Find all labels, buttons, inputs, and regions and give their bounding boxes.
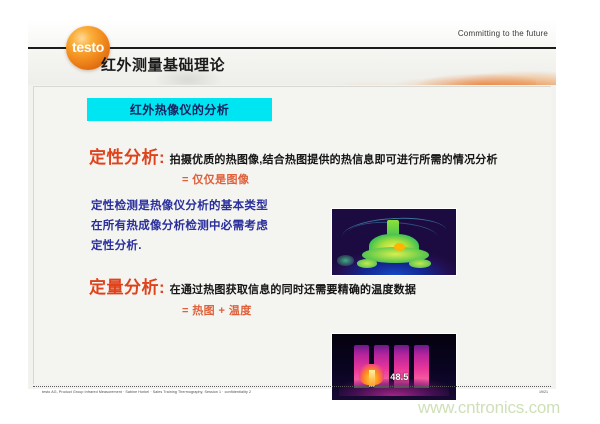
- header-flame-graphic-accent: [356, 55, 536, 85]
- qualitative-equation: = 仅仅是图像: [182, 171, 249, 187]
- page-title: 红外测量基础理论: [101, 54, 225, 75]
- landing-skid-left: [357, 259, 377, 268]
- quantitative-label: 定量分析:: [89, 278, 165, 297]
- slide-body: 红外热像仪的分析 定性分析: 拍摄优质的热图像,结合热图提供的热信息即可进行所需…: [33, 86, 551, 384]
- slide-canvas: Committing to the future testo 红外测量基础理论 …: [28, 20, 556, 389]
- qualitative-label: 定性分析:: [89, 148, 165, 167]
- page-number: 19/21: [539, 390, 548, 394]
- qualitative-heading-row: 定性分析: 拍摄优质的热图像,结合热图提供的热信息即可进行所需的情况分析: [89, 143, 498, 168]
- quantitative-description: 在通过热图获取信息的同时还需要精确的温度数据: [170, 284, 416, 296]
- columns-thermal-image: 48.5: [332, 334, 456, 400]
- qualitative-note-line-3: 定性分析.: [91, 237, 142, 253]
- helicopter-thermal-image: [332, 209, 456, 275]
- qualitative-note-line-2: 在所有热成像分析检测中必需考虑: [91, 217, 268, 233]
- slide-header: Committing to the future testo 红外测量基础理论: [28, 20, 556, 85]
- footer-divider: [33, 386, 551, 387]
- landing-skid-right: [409, 259, 431, 268]
- thermal-hot-bar: [369, 370, 375, 387]
- section-subtitle-banner: 红外热像仪的分析: [87, 98, 272, 121]
- quantitative-equation: = 热图 + 温度: [182, 302, 252, 318]
- site-watermark: www.cntronics.com: [418, 398, 560, 418]
- thermal-glow-left: [337, 255, 354, 266]
- quantitative-heading-row: 定量分析: 在通过热图获取信息的同时还需要精确的温度数据: [89, 273, 416, 298]
- temperature-readout: 48.5: [390, 372, 408, 382]
- testo-logo-text: testo: [72, 39, 104, 55]
- footer-text: testo AG, Product Group Infrared Measure…: [42, 390, 251, 394]
- section-subtitle-text: 红外热像仪的分析: [130, 101, 229, 118]
- qualitative-description: 拍摄优质的热图像,结合热图提供的热信息即可进行所需的情况分析: [170, 154, 498, 166]
- header-tagline: Committing to the future: [458, 29, 548, 38]
- qualitative-note-line-1: 定性检测是热像仪分析的基本类型: [91, 197, 268, 213]
